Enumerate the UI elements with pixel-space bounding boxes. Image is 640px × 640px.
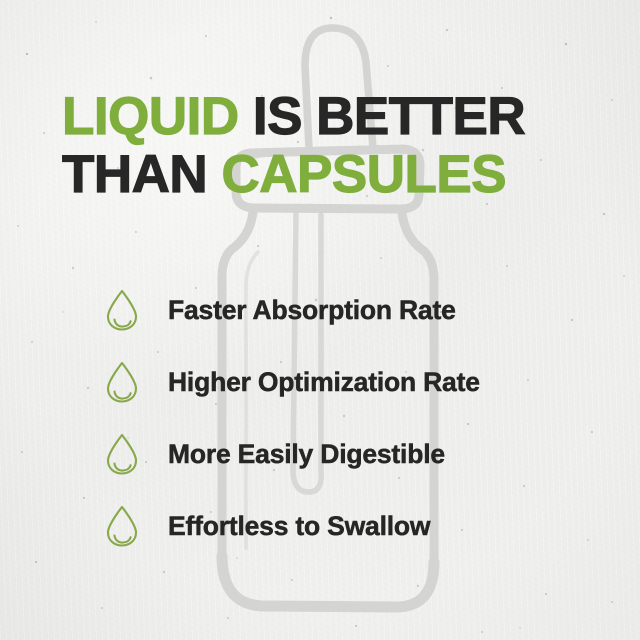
benefit-item-1: Faster Absorption Rate xyxy=(104,274,574,346)
water-drop-icon xyxy=(104,504,140,548)
bottle-bottom xyxy=(222,556,434,607)
headline-word-liquid: LIQUID xyxy=(62,87,239,146)
poster-canvas: LIQUID IS BETTER THAN CAPSULES Faster Ab… xyxy=(0,0,640,640)
headline-line-2: THAN CAPSULES xyxy=(62,146,602,204)
water-drop-icon xyxy=(104,432,140,476)
benefit-item-4: Effortless to Swallow xyxy=(104,490,574,562)
benefit-label: Faster Absorption Rate xyxy=(168,295,456,326)
water-drop-icon xyxy=(104,360,140,404)
headline-line-1: LIQUID IS BETTER xyxy=(62,88,602,146)
benefit-label: More Easily Digestible xyxy=(168,439,445,470)
benefit-label: Higher Optimization Rate xyxy=(168,367,480,398)
benefit-item-2: Higher Optimization Rate xyxy=(104,346,574,418)
benefits-list: Faster Absorption Rate Higher Optimizati… xyxy=(104,274,574,562)
headline-words-is-better: IS BETTER xyxy=(253,87,525,146)
headline-word-capsules: CAPSULES xyxy=(221,145,506,204)
water-drop-icon xyxy=(104,288,140,332)
benefit-item-3: More Easily Digestible xyxy=(104,418,574,490)
benefit-label: Effortless to Swallow xyxy=(168,511,430,542)
headline: LIQUID IS BETTER THAN CAPSULES xyxy=(62,88,602,204)
headline-word-than: THAN xyxy=(62,145,207,204)
